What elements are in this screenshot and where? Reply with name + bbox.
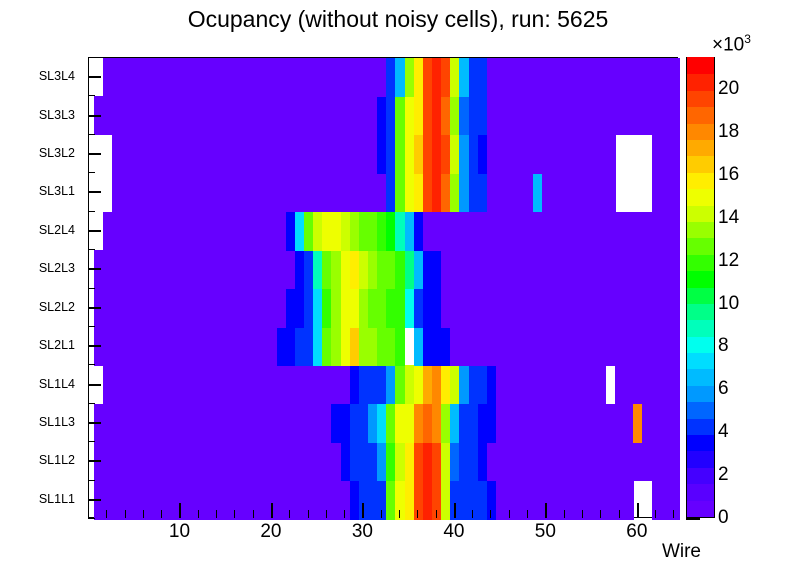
heatmap-cell	[597, 365, 607, 404]
y-axis-tick-label: SL2L4	[39, 223, 75, 237]
y-axis-tick	[88, 345, 101, 347]
y-axis-tick	[88, 76, 101, 78]
x-axis-minor-tick	[527, 510, 528, 518]
y-axis-tick	[88, 460, 101, 462]
y-axis-tick-label: SL1L1	[39, 492, 75, 506]
x-axis-minor-tick	[106, 510, 107, 518]
x-axis-minor-tick	[509, 510, 510, 518]
color-bar-band	[687, 106, 714, 124]
y-axis-tick-label: SL2L3	[39, 261, 75, 275]
y-axis-tick-label: SL2L1	[39, 338, 75, 352]
color-bar-band	[687, 57, 714, 75]
color-bar-band	[687, 336, 714, 354]
color-bar-band	[687, 434, 714, 452]
y-axis-minor-tick	[88, 134, 95, 135]
x-axis-minor-tick	[673, 510, 674, 518]
x-axis-minor-tick	[582, 510, 583, 518]
x-axis-minor-tick	[472, 510, 473, 518]
y-axis-tick-label: SL3L4	[39, 69, 75, 83]
y-axis-tick	[88, 153, 101, 155]
heatmap-cell	[670, 135, 680, 174]
x-axis-minor-tick	[436, 510, 437, 518]
color-bar-tick-label: 20	[718, 78, 739, 100]
heatmap-cell	[606, 135, 616, 174]
y-axis-minor-tick	[88, 211, 95, 212]
color-bar-band	[687, 172, 714, 190]
y-axis-tick	[88, 384, 101, 386]
x-axis-tick-label: 10	[169, 521, 190, 543]
y-axis-minor-tick	[88, 57, 95, 58]
y-axis-minor-tick	[88, 326, 95, 327]
color-bar-band	[687, 303, 714, 321]
heatmap-cell	[670, 212, 680, 251]
y-axis-tick-label: SL1L2	[39, 453, 75, 467]
x-axis-minor-tick	[88, 510, 89, 518]
y-axis-tick-label: SL1L4	[39, 377, 75, 391]
heatmap-cell	[670, 327, 680, 366]
color-bar-tick	[686, 518, 700, 520]
x-axis-minor-tick	[619, 510, 620, 518]
x-axis-tick	[362, 503, 364, 518]
heatmap-cell	[670, 58, 680, 97]
x-axis-minor-tick	[253, 510, 254, 518]
palette-multiplier-exponent: 3	[744, 32, 751, 46]
x-axis-tick	[454, 503, 456, 518]
heatmap-cell	[395, 327, 405, 366]
heatmap-cell	[606, 173, 616, 212]
y-axis-tick	[88, 422, 101, 424]
y-axis-tick-label: SL3L1	[39, 184, 75, 198]
x-axis-minor-tick	[216, 510, 217, 518]
x-axis-minor-tick	[564, 510, 565, 518]
color-bar-band	[687, 499, 714, 517]
y-axis-minor-tick	[88, 518, 95, 519]
x-axis-tick-label: 50	[535, 521, 556, 543]
color-bar-tick-label: 14	[718, 207, 739, 229]
color-bar-band	[687, 418, 714, 436]
color-bar-tick-label: 16	[718, 164, 739, 186]
x-axis-tick	[545, 503, 547, 518]
color-bar-band	[687, 483, 714, 501]
x-axis-minor-tick	[198, 510, 199, 518]
x-axis-tick	[179, 503, 181, 518]
y-axis-minor-tick	[88, 172, 95, 173]
y-axis-minor-tick	[88, 249, 95, 250]
heatmap-plot[interactable]	[88, 57, 678, 518]
color-bar-band	[687, 352, 714, 370]
color-bar-band	[687, 286, 714, 304]
x-axis-title: Wire	[662, 541, 701, 563]
heatmap-cell	[670, 96, 680, 135]
y-axis-tick	[88, 307, 101, 309]
x-axis-minor-tick	[161, 510, 162, 518]
color-bar-tick-label: 4	[718, 421, 729, 443]
y-axis-tick-label: SL3L2	[39, 146, 75, 160]
color-bar-band	[687, 385, 714, 403]
heatmap-cell	[670, 481, 680, 520]
color-bar-tick-label: 10	[718, 293, 739, 315]
x-axis-tick	[637, 503, 639, 518]
color-bar-band	[687, 467, 714, 485]
x-axis-tick-label: 20	[260, 521, 281, 543]
x-axis-tick-label: 60	[626, 521, 647, 543]
heatmap-cell	[670, 442, 680, 481]
x-axis-minor-tick	[600, 510, 601, 518]
x-axis-minor-tick	[490, 510, 491, 518]
color-bar-band	[687, 254, 714, 272]
palette-multiplier-base: ×10	[712, 34, 744, 55]
color-bar-tick-label: 8	[718, 335, 729, 357]
heatmap-cell	[670, 173, 680, 212]
color-bar-band	[687, 204, 714, 222]
y-axis-tick-label: SL2L2	[39, 300, 75, 314]
color-bar-band	[687, 139, 714, 157]
color-bar[interactable]	[686, 57, 715, 518]
y-axis-minor-tick	[88, 95, 95, 96]
heatmap-cell	[670, 365, 680, 404]
x-axis-minor-tick	[417, 510, 418, 518]
color-bar-band	[687, 73, 714, 91]
color-bar-band	[687, 155, 714, 173]
x-axis-tick-label: 40	[443, 521, 464, 543]
y-axis-tick-label: SL3L3	[39, 108, 75, 122]
y-axis-labels: SL1L1SL1L2SL1L3SL1L4SL2L1SL2L2SL2L3SL2L4…	[0, 57, 86, 518]
x-axis-minor-tick	[125, 510, 126, 518]
x-axis-tick	[271, 503, 273, 518]
x-axis-minor-tick	[143, 510, 144, 518]
x-axis-minor-tick	[289, 510, 290, 518]
x-axis-minor-tick	[381, 510, 382, 518]
root-canvas: Ocupancy (without noisy cells), run: 562…	[0, 0, 796, 572]
palette-multiplier: ×103	[712, 32, 751, 56]
color-bar-band	[687, 270, 714, 288]
color-bar-band	[687, 319, 714, 337]
color-bar-band	[687, 188, 714, 206]
x-axis-minor-tick	[344, 510, 345, 518]
x-axis-minor-tick	[234, 510, 235, 518]
y-axis-minor-tick	[88, 288, 95, 289]
color-bar-band	[687, 368, 714, 386]
color-bar-band	[687, 237, 714, 255]
heatmap-cell	[624, 481, 634, 520]
color-bar-tick-label: 0	[718, 507, 729, 529]
x-axis-minor-tick	[399, 510, 400, 518]
x-axis-minor-tick	[308, 510, 309, 518]
y-axis-minor-tick	[88, 480, 95, 481]
color-bar-tick-label: 12	[718, 250, 739, 272]
y-axis-minor-tick	[88, 441, 95, 442]
x-axis-minor-tick	[326, 510, 327, 518]
y-axis-minor-tick	[88, 403, 95, 404]
color-bar-band	[687, 221, 714, 239]
heatmap-cell	[670, 289, 680, 328]
color-bar-tick-label: 2	[718, 464, 729, 486]
color-bar-band	[687, 401, 714, 419]
x-axis-tick-label: 30	[352, 521, 373, 543]
y-axis-tick-label: SL1L3	[39, 415, 75, 429]
y-axis-tick	[88, 115, 101, 117]
y-axis-minor-tick	[88, 364, 95, 365]
y-axis-tick	[88, 230, 101, 232]
x-axis-minor-tick	[655, 510, 656, 518]
color-bar-band	[687, 450, 714, 468]
color-bar-band	[687, 122, 714, 140]
page-title: Ocupancy (without noisy cells), run: 562…	[0, 6, 796, 33]
y-axis-tick	[88, 499, 101, 501]
color-bar-tick-label: 6	[718, 378, 729, 400]
heatmap-cell	[670, 404, 680, 443]
color-bar-band	[687, 90, 714, 108]
heatmap-cell	[670, 250, 680, 289]
heatmap-cells	[89, 58, 677, 517]
y-axis-tick	[88, 268, 101, 270]
y-axis-tick	[88, 191, 101, 193]
color-bar-tick-label: 18	[718, 121, 739, 143]
